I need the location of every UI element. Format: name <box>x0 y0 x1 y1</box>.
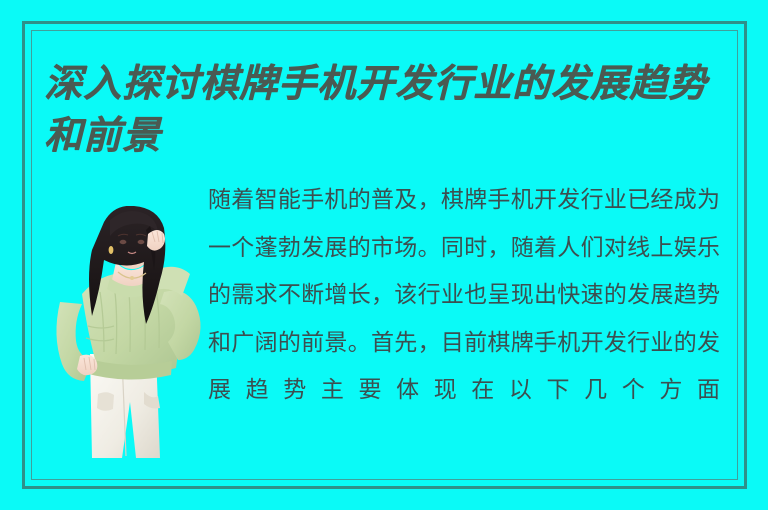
article-body-paragraph: 随着智能手机的普及，棋牌手机开发行业已经成为一个蓬勃发展的市场。同时，随着人们对… <box>208 176 720 414</box>
page-title: 深入探讨棋牌手机开发行业的发展趋势和前景 <box>44 58 724 162</box>
model-photo-illustration <box>52 206 212 458</box>
model-photo <box>52 206 212 458</box>
poster-canvas: 深入探讨棋牌手机开发行业的发展趋势和前景 <box>0 0 768 510</box>
article-body: 随着智能手机的普及，棋牌手机开发行业已经成为一个蓬勃发展的市场。同时，随着人们对… <box>208 176 720 414</box>
